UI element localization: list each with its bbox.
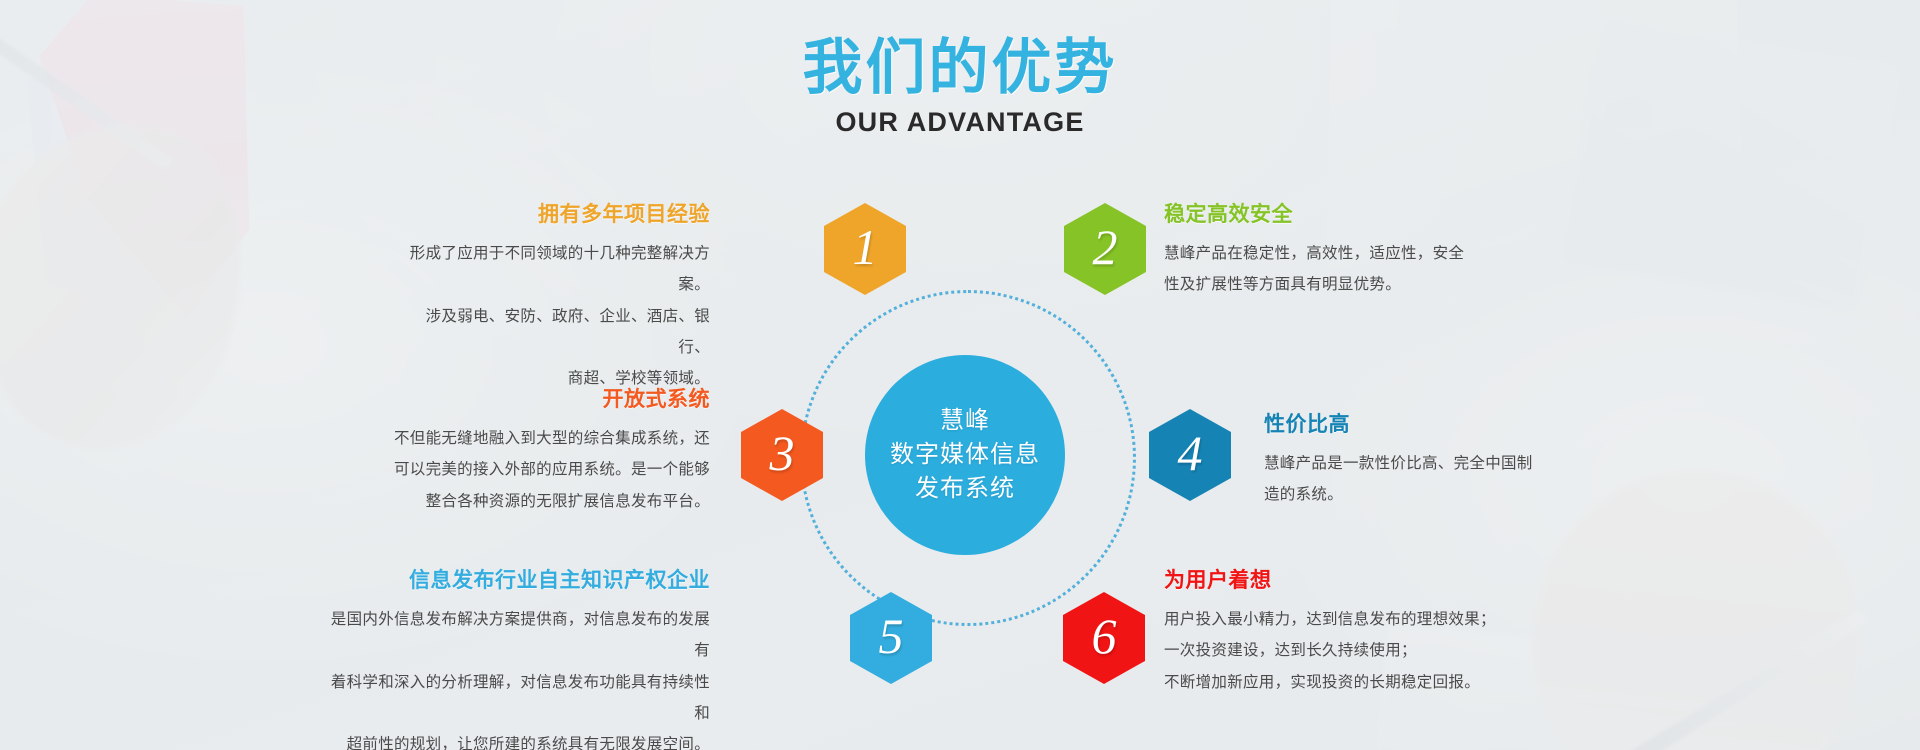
advantage-title-3: 开放式系统 — [340, 383, 710, 413]
advantage-body-line: 慧峰产品是一款性价比高、完全中国制 — [1264, 448, 1594, 479]
hex-number-5: 5 — [879, 607, 904, 665]
hex-number-2: 2 — [1093, 218, 1118, 276]
hex-badge-6[interactable]: 6 — [1063, 592, 1145, 684]
advantage-body-line: 形成了应用于不同领域的十几种完整解决方案。 — [400, 238, 710, 301]
advantage-body-6: 用户投入最小精力，达到信息发布的理想效果；一次投资建设，达到长久持续使用；不断增… — [1164, 604, 1524, 698]
hex-number-6: 6 — [1092, 607, 1117, 665]
advantage-title-5: 信息发布行业自主知识产权企业 — [330, 564, 710, 594]
advantage-body-line: 不但能无缝地融入到大型的综合集成系统，还 — [340, 423, 710, 454]
center-hub: 慧峰 数字媒体信息 发布系统 — [865, 355, 1065, 555]
advantage-body-5: 是国内外信息发布解决方案提供商，对信息发布的发展有着科学和深入的分析理解，对信息… — [330, 604, 710, 750]
advantage-title-2: 稳定高效安全 — [1164, 198, 1494, 228]
advantage-body-line: 涉及弱电、安防、政府、企业、酒店、银行、 — [400, 301, 710, 364]
advantage-block-1: 拥有多年项目经验 形成了应用于不同领域的十几种完整解决方案。涉及弱电、安防、政府… — [400, 198, 710, 394]
hex-badge-4[interactable]: 4 — [1149, 409, 1231, 501]
advantage-body-line: 可以完美的接入外部的应用系统。是一个能够 — [340, 454, 710, 485]
advantage-body-line: 整合各种资源的无限扩展信息发布平台。 — [340, 486, 710, 517]
advantage-body-4: 慧峰产品是一款性价比高、完全中国制造的系统。 — [1264, 448, 1594, 511]
advantage-title-6: 为用户着想 — [1164, 564, 1524, 594]
advantage-body-1: 形成了应用于不同领域的十几种完整解决方案。涉及弱电、安防、政府、企业、酒店、银行… — [400, 238, 710, 394]
infographic-canvas: 我们的优势 OUR ADVANTAGE 慧峰 数字媒体信息 发布系统 1 2 3… — [0, 0, 1920, 750]
hex-number-1: 1 — [853, 218, 878, 276]
advantage-title-4: 性价比高 — [1264, 408, 1594, 438]
advantage-body-line: 造的系统。 — [1264, 479, 1594, 510]
advantage-body-line: 一次投资建设，达到长久持续使用； — [1164, 635, 1524, 666]
advantage-body-line: 着科学和深入的分析理解，对信息发布功能具有持续性和 — [330, 667, 710, 730]
advantage-title-1: 拥有多年项目经验 — [400, 198, 710, 228]
advantage-body-3: 不但能无缝地融入到大型的综合集成系统，还可以完美的接入外部的应用系统。是一个能够… — [340, 423, 710, 517]
hex-number-3: 3 — [770, 424, 795, 482]
hex-badge-1[interactable]: 1 — [824, 203, 906, 295]
advantage-body-line: 超前性的规划，让您所建的系统具有无限发展空间。 — [330, 729, 710, 750]
advantage-body-line: 不断增加新应用，实现投资的长期稳定回报。 — [1164, 667, 1524, 698]
advantage-body-2: 慧峰产品在稳定性，高效性，适应性，安全性及扩展性等方面具有明显优势。 — [1164, 238, 1494, 301]
advantage-block-5: 信息发布行业自主知识产权企业 是国内外信息发布解决方案提供商，对信息发布的发展有… — [330, 564, 710, 750]
advantage-block-4: 性价比高 慧峰产品是一款性价比高、完全中国制造的系统。 — [1264, 408, 1594, 511]
hex-number-4: 4 — [1178, 424, 1203, 482]
advantage-block-3: 开放式系统 不但能无缝地融入到大型的综合集成系统，还可以完美的接入外部的应用系统… — [340, 383, 710, 517]
center-line-1: 慧峰 — [940, 404, 990, 438]
advantage-body-line: 性及扩展性等方面具有明显优势。 — [1164, 269, 1494, 300]
page-heading: 我们的优势 OUR ADVANTAGE — [0, 36, 1920, 138]
advantage-body-line: 是国内外信息发布解决方案提供商，对信息发布的发展有 — [330, 604, 710, 667]
page-title: 我们的优势 — [0, 36, 1920, 99]
hex-badge-2[interactable]: 2 — [1064, 203, 1146, 295]
advantage-body-line: 慧峰产品在稳定性，高效性，适应性，安全 — [1164, 238, 1494, 269]
advantage-block-6: 为用户着想 用户投入最小精力，达到信息发布的理想效果；一次投资建设，达到长久持续… — [1164, 564, 1524, 698]
center-line-3: 发布系统 — [915, 472, 1015, 506]
center-line-2: 数字媒体信息 — [890, 438, 1040, 472]
advantage-block-2: 稳定高效安全 慧峰产品在稳定性，高效性，适应性，安全性及扩展性等方面具有明显优势… — [1164, 198, 1494, 301]
advantage-body-line: 用户投入最小精力，达到信息发布的理想效果； — [1164, 604, 1524, 635]
page-subtitle: OUR ADVANTAGE — [0, 107, 1920, 138]
